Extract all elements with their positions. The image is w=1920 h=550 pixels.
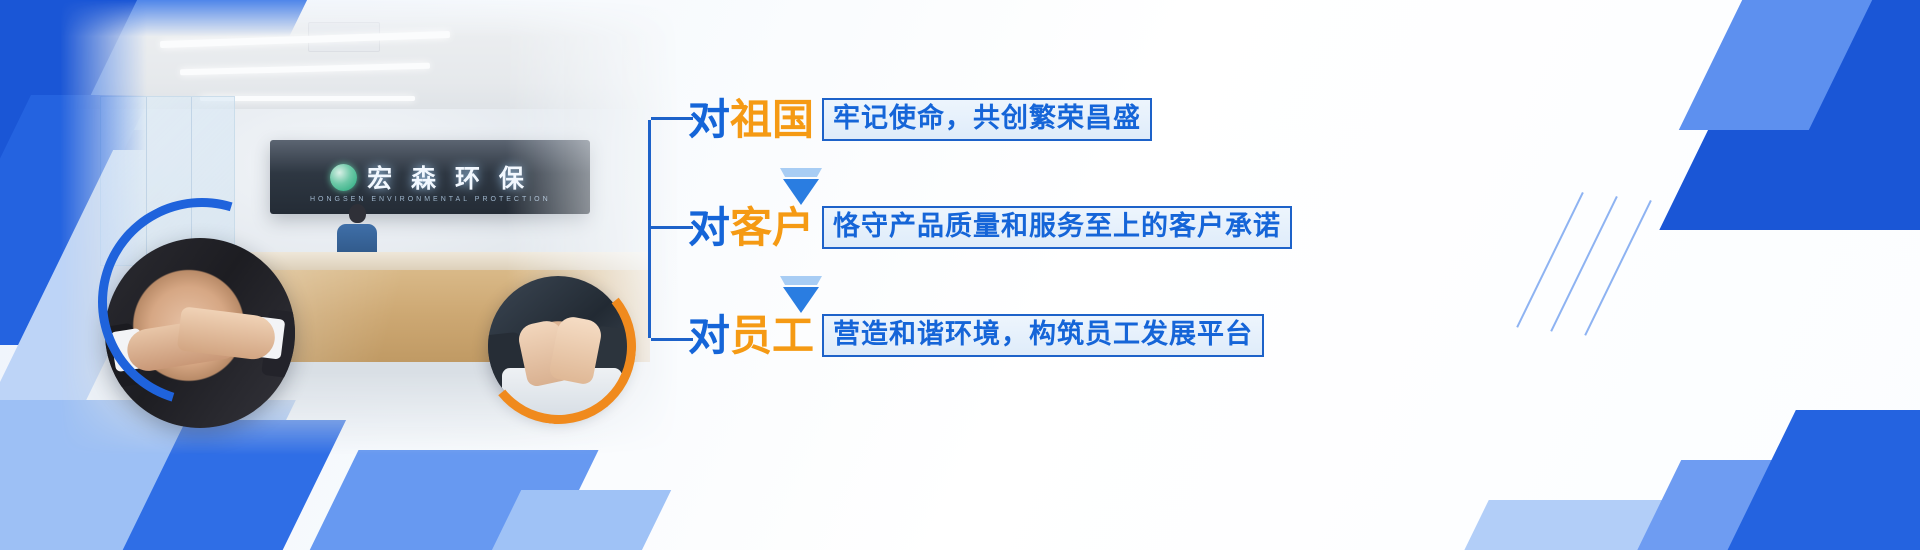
arrow-down-icon bbox=[780, 168, 822, 205]
slogan-row-country: 对祖国 牢记使命，共创繁荣昌盛 bbox=[688, 98, 1152, 141]
slogan-lead-employee: 对员工 bbox=[688, 315, 814, 357]
arrow-down-icon bbox=[780, 276, 822, 313]
slogan-tagline-employee: 营造和谐环境，构筑员工发展平台 bbox=[822, 314, 1264, 357]
slogan-lead-country: 对祖国 bbox=[688, 99, 814, 141]
company-logo-icon bbox=[330, 164, 357, 191]
slogan-lead-keyword: 员工 bbox=[730, 311, 814, 360]
slogan-lead-prefix: 对 bbox=[688, 311, 730, 360]
slogan-row-customer: 对客户 恪守产品质量和服务至上的客户承诺 bbox=[688, 206, 1292, 249]
slogan-tagline-country: 牢记使命，共创繁荣昌盛 bbox=[822, 98, 1152, 141]
slogan-row-employee: 对员工 营造和谐环境，构筑员工发展平台 bbox=[688, 314, 1264, 357]
bracket-connector bbox=[648, 120, 690, 338]
company-sign-text: 宏 森 环 保 bbox=[367, 159, 530, 195]
slogan-lead-customer: 对客户 bbox=[688, 207, 814, 249]
slogan-lead-keyword: 客户 bbox=[730, 203, 814, 252]
slogan-block: 对祖国 牢记使命，共创繁荣昌盛 对客户 恪守产品质量和服务至上的客户承诺 对员工… bbox=[648, 76, 1368, 386]
slogan-tagline-customer: 恪守产品质量和服务至上的客户承诺 bbox=[822, 206, 1292, 249]
slogan-lead-keyword: 祖国 bbox=[730, 95, 814, 144]
promo-banner: 宏 森 环 保 HONGSEN ENVIRONMENTAL PROTECTION bbox=[0, 0, 1920, 550]
slogan-lead-prefix: 对 bbox=[688, 95, 730, 144]
slogan-lead-prefix: 对 bbox=[688, 203, 730, 252]
receptionist-figure bbox=[337, 204, 377, 258]
company-sign-subtext: HONGSEN ENVIRONMENTAL PROTECTION bbox=[310, 196, 551, 203]
